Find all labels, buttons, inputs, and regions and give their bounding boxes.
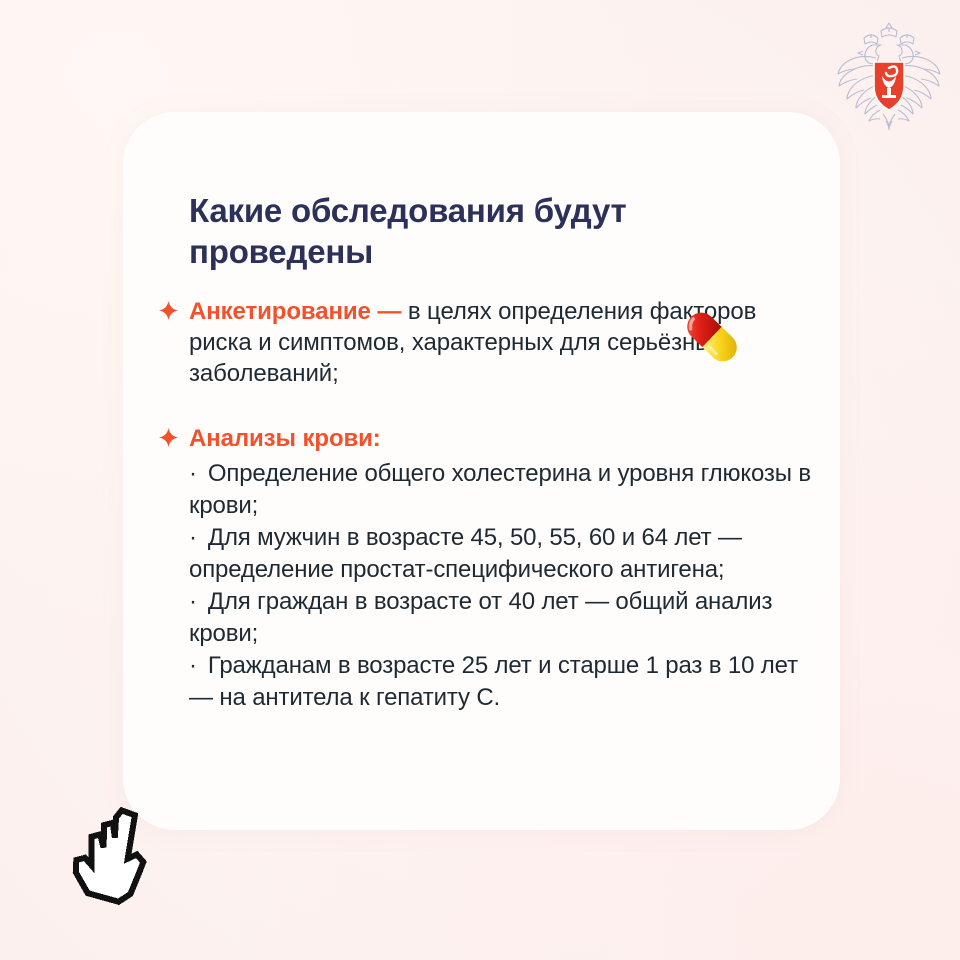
sub-bullet-glyph: · bbox=[189, 588, 197, 615]
section-blood-tests: Анализы крови: ·Определение общего холес… bbox=[159, 423, 812, 714]
star-bullet-icon bbox=[159, 301, 178, 320]
sub-bullet-glyph: · bbox=[189, 460, 197, 487]
blood-tests-list: ·Определение общего холестерина и уровня… bbox=[189, 458, 812, 714]
list-item: ·Для граждан в возрасте от 40 лет — общи… bbox=[189, 586, 812, 650]
ministry-of-health-emblem bbox=[836, 18, 942, 130]
info-card: Какие обследования будут проведены Анкет… bbox=[123, 112, 840, 830]
list-item: ·Гражданам в возрасте 25 лет и старше 1 … bbox=[189, 650, 812, 714]
star-bullet-icon bbox=[159, 428, 178, 447]
capsule-pill-icon bbox=[676, 300, 748, 374]
sub-bullet-glyph: · bbox=[189, 524, 197, 551]
list-item-text: Определение общего холестерина и уровня … bbox=[189, 460, 811, 519]
questionnaire-dash: — bbox=[371, 298, 408, 325]
sub-bullet-glyph: · bbox=[189, 652, 197, 679]
list-item: ·Для мужчин в возрасте 45, 50, 55, 60 и … bbox=[189, 522, 812, 586]
list-item-text: Для граждан в возрасте от 40 лет — общий… bbox=[189, 588, 772, 647]
list-item: ·Определение общего холестерина и уровня… bbox=[189, 458, 812, 522]
list-item-text: Для мужчин в возрасте 45, 50, 55, 60 и 6… bbox=[189, 524, 742, 583]
hand-pointer-cursor-icon bbox=[68, 806, 163, 906]
questionnaire-label: Анкетирование bbox=[189, 298, 371, 325]
blood-tests-label: Анализы крови: bbox=[189, 425, 381, 452]
page-title: Какие обследования будут проведены bbox=[189, 190, 749, 273]
list-item-text: Гражданам в возрасте 25 лет и старше 1 р… bbox=[189, 652, 798, 711]
blood-tests-heading: Анализы крови: bbox=[189, 423, 812, 454]
